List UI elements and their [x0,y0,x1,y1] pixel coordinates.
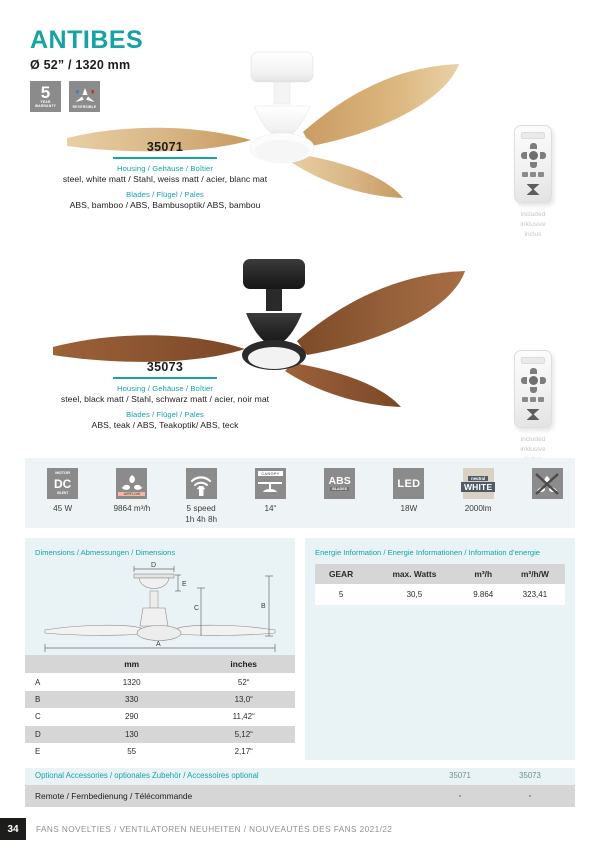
table-header-row: mm inches [25,655,295,673]
canopy-glyph [257,479,283,495]
canopy-caption: 14“ [243,503,298,514]
housing-label: Housing / Gehäuse / Boîtier [0,384,330,393]
page-number: 34 [0,818,26,840]
remote-logo [527,184,540,195]
crossed-out-glyph [534,472,560,496]
housing-label: Housing / Gehäuse / Boîtier [0,164,330,173]
energy-watts: 30,5 [367,584,462,605]
col-gear: GEAR [315,564,367,584]
speed-caption: 5 speed 1h 4h 8h [174,503,229,525]
spec-canopy: CANOPY 14“ [243,468,298,514]
abs-blades-icon: ABS BLADES [324,468,355,499]
dim-inches: 11,42“ [192,708,295,725]
svg-text:C: C [194,605,199,612]
energy-title: Energie Information / Energie Informatio… [305,538,575,558]
table-row: 5 30,5 9.864 323,41 [315,584,565,605]
spec-airflow: AIRFLOW 9864 m³/h [104,468,159,514]
led-caption: 18W [381,503,436,514]
spec-speed: 5 speed 1h 4h 8h [174,468,229,525]
dim-inches: 2,17“ [192,743,295,760]
svg-text:A: A [156,641,161,648]
abs-sub-label: BLADES [330,487,349,491]
airflow-label: AIRFLOW [118,492,145,496]
spec-no-feature [520,468,575,503]
dc-bottom-label: SILENT [47,491,78,495]
accessory-avail-35071: · [425,793,495,800]
accessories-section: Optional Accessories / optionales Zubehö… [25,768,575,807]
airflow-caption: 9864 m³/h [104,503,159,514]
remote-illustration-35071: included inklusive inclus [485,125,581,241]
product-info-35071: 35071 Housing / Gehäuse / Boîtier steel,… [0,140,330,216]
dimensions-diagram: A B C D E [37,562,283,655]
col-inches: inches [192,655,295,673]
energy-m3h: 9.864 [462,584,505,605]
blades-label: Blades / Flügel / Pales [0,410,330,419]
table-row: E 55 2,17“ [25,743,295,760]
icon-list: MOTOR DC SILENT 45 W AIRFLOW 9864 m³/h [25,458,575,525]
table-row: B 330 13,0“ [25,691,295,708]
product-code: 35073 [0,360,330,374]
dimensions-title: Dimensions / Abmessungen / Dimensions [25,538,295,558]
catalog-page: ANTIBES Ø 52” / 1320 mm 5 YEAR WARRANTY … [0,0,600,848]
specification-icon-strip: MOTOR DC SILENT 45 W AIRFLOW 9864 m³/h [25,458,575,528]
accessory-label: Remote / Fernbedienung / Télécommande [35,791,425,801]
footer-text: FANS NOVELTIES / VENTILATOREN NEUHEITEN … [36,825,392,834]
page-footer: 34 FANS NOVELTIES / VENTILATOREN NEUHEIT… [0,818,600,840]
remote-caption: included inklusive inclus [485,210,581,241]
dimensions-panel: Dimensions / Abmessungen / Dimensions [25,538,295,760]
accessory-avail-35073: · [495,793,565,800]
housing-value: steel, white matt / Stahl, weiss matt / … [0,174,330,184]
dim-key: A [25,673,71,690]
remote-dpad [521,143,546,168]
dc-main-label: DC [54,478,71,490]
blades-label: Blades / Flügel / Pales [0,190,330,199]
remote-buttons [515,397,551,402]
remote-dpad [521,368,546,393]
dim-mm: 130 [71,726,193,743]
dim-mm: 330 [71,691,193,708]
dc-motor-icon: MOTOR DC SILENT [47,468,78,499]
product-info-35073: 35073 Housing / Gehäuse / Boîtier steel,… [0,360,330,436]
dim-mm: 55 [71,743,193,760]
energy-gear: 5 [315,584,367,605]
code-underline [113,157,217,159]
remote-screen [521,132,545,139]
table-row: C 290 11,42“ [25,708,295,725]
canopy-icon: CANOPY [255,468,286,499]
svg-text:B: B [261,603,266,610]
remote-control-icon [514,125,552,203]
svg-text:D: D [151,562,156,569]
lumen-caption: 2000lm [451,503,506,514]
dim-key: D [25,726,71,743]
accessory-row-remote: Remote / Fernbedienung / Télécommande · … [25,785,575,807]
table-row: D 130 5,12“ [25,726,295,743]
product-block-35073: 35073 Housing / Gehäuse / Boîtier steel,… [0,255,600,470]
dim-inches: 5,12“ [192,726,295,743]
table-row: A 1320 52“ [25,673,295,690]
fan-dimension-drawing: A B C D E [37,562,283,655]
remote-logo [527,409,540,420]
energy-table: GEAR max. Watts m³/h m³/h/W 5 30,5 9.864… [315,564,565,605]
remote-illustration-35073: included inklusive inclus [485,350,581,466]
col-m3h: m³/h [462,564,505,584]
blades-value: ABS, bamboo / ABS, Bambusoptik/ ABS, bam… [0,200,330,210]
remote-control-icon [514,350,552,428]
neutral-white-icon: neutral WHITE [463,468,494,499]
table-header-row: GEAR max. Watts m³/h m³/h/W [315,564,565,584]
product-block-35071: 35071 Housing / Gehäuse / Boîtier steel,… [0,40,600,270]
spec-dc-motor: MOTOR DC SILENT 45 W [35,468,90,514]
accessories-header: Optional Accessories / optionales Zubehö… [25,768,575,785]
svg-text:E: E [182,581,187,588]
code-underline [113,377,217,379]
dim-key: E [25,743,71,760]
dim-mm: 1320 [71,673,193,690]
accessories-col-35071: 35071 [425,771,495,780]
remote-screen [521,357,545,364]
dim-key: C [25,708,71,725]
remote-buttons [515,172,551,177]
dc-caption: 45 W [35,503,90,514]
energy-m3hw: 323,41 [505,584,565,605]
led-icon: LED [393,468,424,499]
product-code: 35071 [0,140,330,154]
col-key [25,655,71,673]
dim-key: B [25,691,71,708]
spec-color-temp: neutral WHITE 2000lm [451,468,506,514]
no-remote-crossed-icon [532,468,563,499]
accessories-col-35073: 35073 [495,771,565,780]
col-m3hw: m³/h/W [505,564,565,584]
spec-led: LED 18W [381,468,436,514]
dc-top-label: MOTOR [47,471,78,475]
led-label: LED [397,478,420,490]
dim-inches: 52“ [192,673,295,690]
dimensions-table: mm inches A 1320 52“ B 330 13,0“ C 290 [25,655,295,760]
energy-panel: Energie Information / Energie Informatio… [305,538,575,760]
fan-blades-glyph [121,474,143,494]
white-label: WHITE [461,482,495,492]
housing-value: steel, black matt / Stahl, schwarz matt … [0,394,330,404]
blades-value: ABS, teak / ABS, Teakoptik/ ABS, teck [0,420,330,430]
signal-waves-glyph [189,472,213,496]
airflow-icon: AIRFLOW [116,468,147,499]
abs-main-label: ABS [329,476,351,487]
col-max-watts: max. Watts [367,564,462,584]
accessories-title: Optional Accessories / optionales Zubehö… [35,771,425,780]
spec-abs-blades: ABS BLADES [312,468,367,503]
col-mm: mm [71,655,193,673]
dim-mm: 290 [71,708,193,725]
canopy-label: CANOPY [258,471,283,476]
dim-inches: 13,0“ [192,691,295,708]
remote-signal-icon [186,468,217,499]
neutral-label: neutral [468,476,488,481]
